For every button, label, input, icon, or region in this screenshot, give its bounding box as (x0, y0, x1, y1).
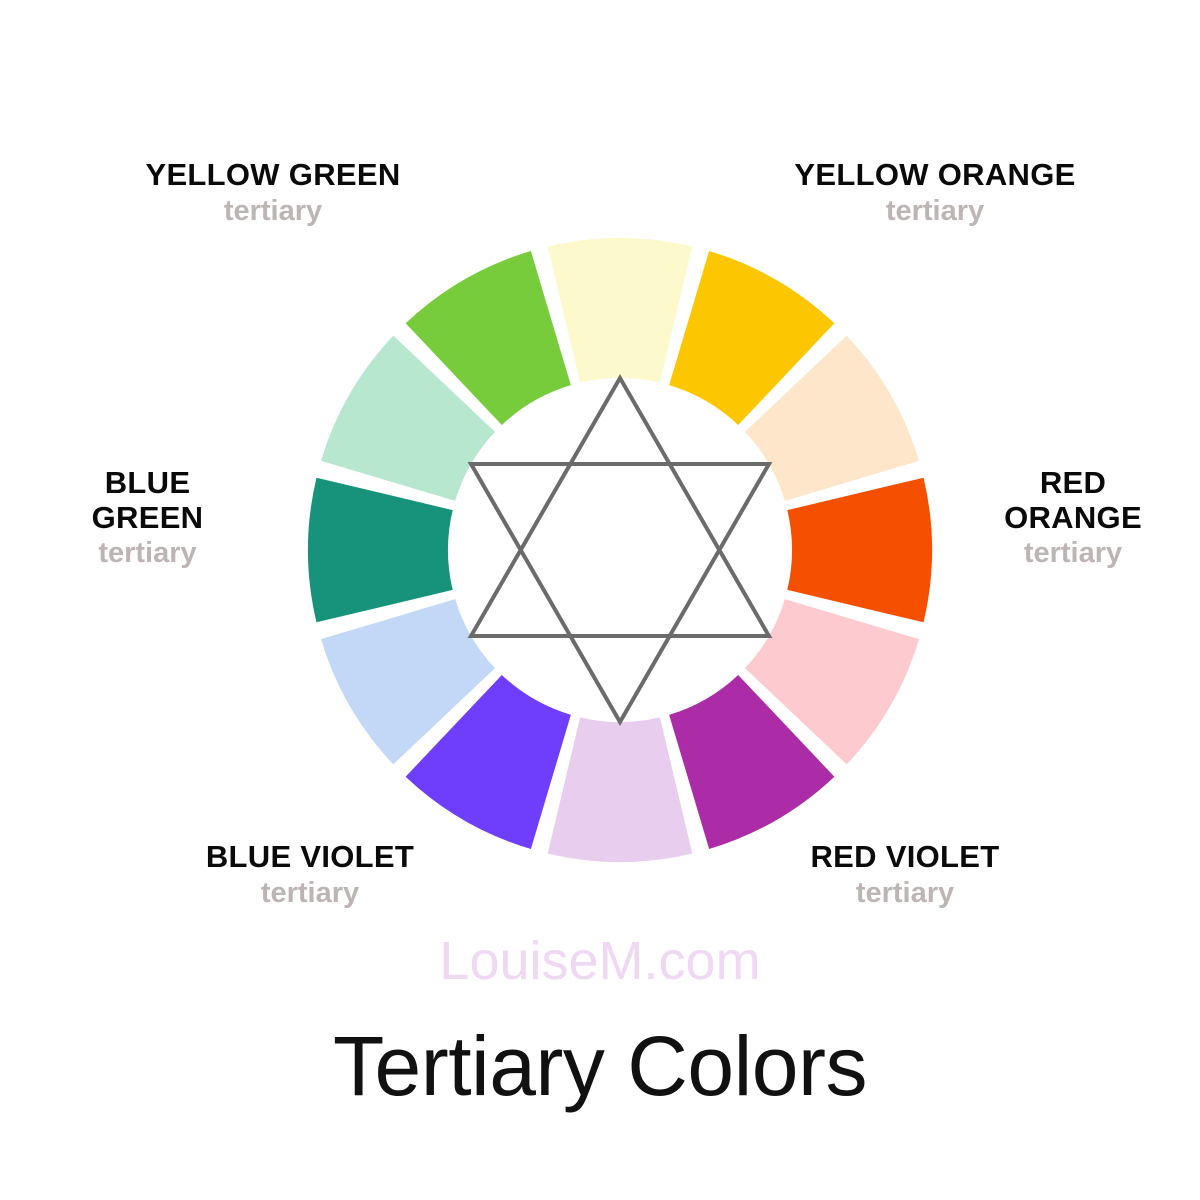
label-yellow-orange: YELLOW ORANGE tertiary (760, 158, 1110, 227)
label-red-violet-name: RED VIOLET (780, 840, 1030, 875)
label-blue-violet: BLUE VIOLET tertiary (165, 840, 455, 909)
label-blue-green-tier: tertiary (30, 537, 265, 569)
label-blue-violet-name: BLUE VIOLET (165, 840, 455, 875)
star-triangle-secondaries (471, 464, 769, 722)
label-red-violet-tier: tertiary (780, 877, 1030, 909)
label-red-orange-name: RED ORANGE (958, 466, 1188, 535)
label-blue-violet-tier: tertiary (165, 877, 455, 909)
hexagram-star-overlay (471, 378, 769, 722)
watermark: LouiseM.com (0, 930, 1200, 992)
wheel-segment-yellow[interactable] (548, 238, 693, 383)
label-yellow-green-tier: tertiary (108, 195, 438, 227)
label-red-violet: RED VIOLET tertiary (780, 840, 1030, 909)
label-yellow-green: YELLOW GREEN tertiary (108, 158, 438, 227)
star-triangle-primaries (471, 378, 769, 636)
label-red-orange-tier: tertiary (958, 537, 1188, 569)
label-blue-green: BLUE GREEN tertiary (30, 466, 265, 570)
label-yellow-orange-tier: tertiary (760, 195, 1110, 227)
label-red-orange: RED ORANGE tertiary (958, 466, 1188, 570)
color-wheel-infographic: YELLOW GREEN tertiary YELLOW ORANGE tert… (0, 0, 1200, 1200)
wheel-segment-group (308, 238, 932, 862)
wheel-segment-red-orange[interactable] (787, 478, 932, 623)
label-yellow-green-name: YELLOW GREEN (108, 158, 438, 193)
label-yellow-orange-name: YELLOW ORANGE (760, 158, 1110, 193)
wheel-segment-violet[interactable] (548, 717, 693, 862)
label-blue-green-name: BLUE GREEN (30, 466, 265, 535)
page-title: Tertiary Colors (0, 1018, 1200, 1115)
wheel-segment-blue-green[interactable] (308, 478, 453, 623)
